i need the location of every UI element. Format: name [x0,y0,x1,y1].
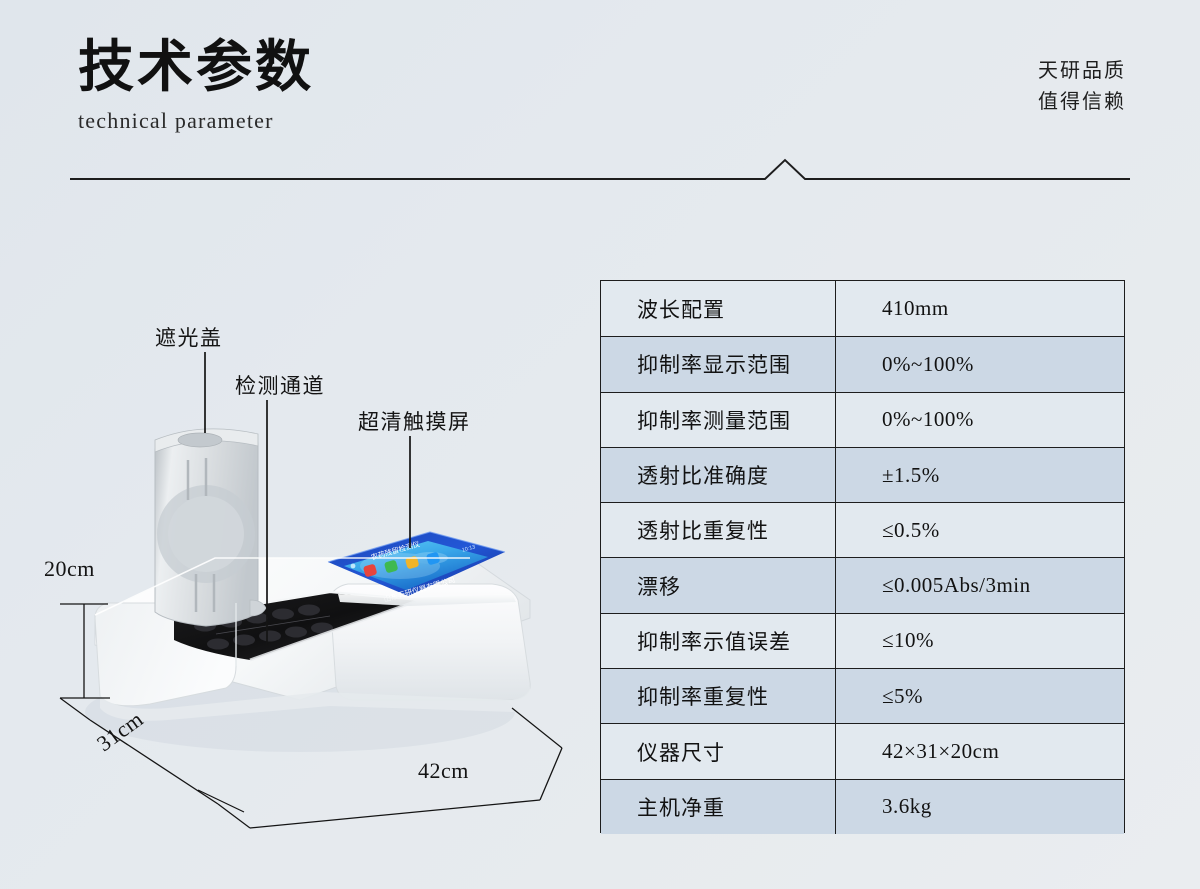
spec-row: 主机净重3.6kg [601,779,1124,834]
spec-row: 抑制率测量范围0%~100% [601,392,1124,447]
callout-label-light-shield-cover: 遮光盖 [155,322,223,352]
spec-row: 透射比准确度±1.5% [601,447,1124,502]
spec-row-value: 410mm [836,281,1124,336]
spec-row-value: ±1.5% [836,448,1124,502]
spec-row: 抑制率重复性≤5% [601,668,1124,723]
title-block: 技术参数 technical parameter [78,38,314,134]
spec-row: 仪器尺寸42×31×20cm [601,723,1124,778]
page-title: 技术参数 [78,38,314,98]
spec-row: 波长配置410mm [601,281,1124,336]
page-subtitle: technical parameter [78,108,314,134]
spec-row-value: 42×31×20cm [836,724,1124,778]
specification-table: 波长配置410mm抑制率显示范围0%~100%抑制率测量范围0%~100%透射比… [600,280,1125,833]
spec-row: 透射比重复性≤0.5% [601,502,1124,557]
dimension-label-width: 42cm [418,758,469,784]
spec-row-value: 0%~100% [836,393,1124,447]
spec-row-key: 抑制率重复性 [601,669,836,723]
brand-slogan: 天研品质 值得信赖 [1038,56,1126,118]
spec-row-value: 3.6kg [836,780,1124,834]
page-header: 技术参数 technical parameter 天研品质 值得信赖 [0,0,1200,200]
spec-row: 漂移≤0.005Abs/3min [601,557,1124,612]
spec-row-key: 透射比准确度 [601,448,836,502]
spec-row: 抑制率示值误差≤10% [601,613,1124,668]
spec-row-key: 主机净重 [601,780,836,834]
spec-row-value: ≤5% [836,669,1124,723]
spec-row-key: 波长配置 [601,281,836,336]
spec-row-key: 透射比重复性 [601,503,836,557]
slogan-line-1: 天研品质 [1038,56,1126,87]
light-shield-cover [155,429,258,626]
spec-row-key: 抑制率显示范围 [601,337,836,391]
spec-row: 抑制率显示范围0%~100% [601,336,1124,391]
spec-row-value: ≤10% [836,614,1124,668]
spec-row-key: 抑制率示值误差 [601,614,836,668]
slogan-line-2: 值得信赖 [1038,87,1126,118]
spec-row-value: ≤0.5% [836,503,1124,557]
spec-row-key: 仪器尺寸 [601,724,836,778]
screen-status-dot [351,564,356,569]
spec-row-key: 漂移 [601,558,836,612]
peak-divider-ornament [70,160,1130,179]
product-illustration: 农药残留检测仪 10:13 山东天研仪器有限公司 [0,300,600,860]
spec-row-value: ≤0.005Abs/3min [836,558,1124,612]
dimension-label-height: 20cm [44,556,95,582]
callout-label-detection-channel: 检测通道 [235,370,325,400]
spec-row-value: 0%~100% [836,337,1124,391]
callout-label-touchscreen: 超清触摸屏 [358,406,471,436]
spec-row-key: 抑制率测量范围 [601,393,836,447]
header-divider [0,155,1200,195]
lid-knob [178,433,222,447]
